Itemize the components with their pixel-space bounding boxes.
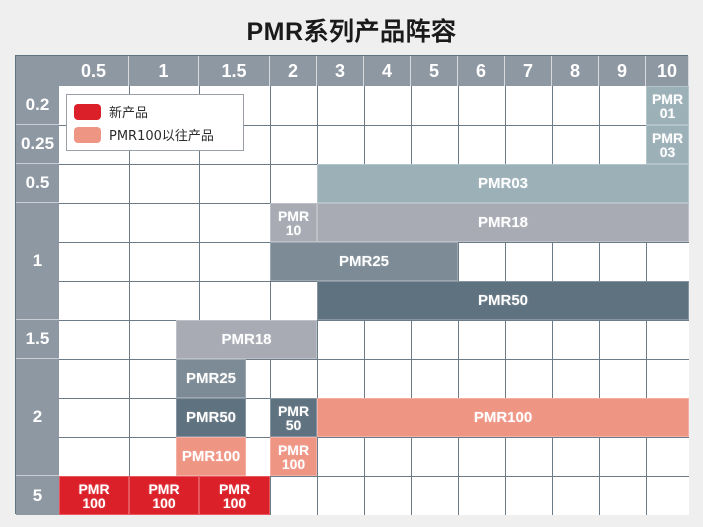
page-title: PMR系列产品阵容 [0,12,703,48]
row-header-1.5: 1.5 [16,320,59,359]
pmr18-bar-low[interactable]: PMR18 [176,320,317,359]
pmr100-new-a[interactable]: PMR 100 [59,476,129,515]
grid-line-horizontal [59,437,689,438]
row-header-1: 1 [16,203,59,320]
pmr100-legacy-b[interactable]: PMR 100 [270,437,317,476]
pmr03-cell[interactable]: PMR 03 [646,125,689,164]
legend-swatch-legacy-product [74,127,101,143]
column-header-0.5: 0.5 [59,56,129,86]
column-header-6: 6 [458,56,505,86]
column-header-10: 10 [646,56,689,86]
pmr50-bar[interactable]: PMR50 [317,281,689,320]
column-header-1.5: 1.5 [199,56,270,86]
column-header-row: 0.511.52345678910 [16,56,689,86]
pmr100-new-c[interactable]: PMR 100 [199,476,270,515]
pmr10-cell[interactable]: PMR 10 [270,203,317,242]
product-lineup-matrix: W mΩ 0.511.52345678910 0.20.250.511.525 … [15,55,688,514]
pmr100-legacy-a[interactable]: PMR100 [176,437,246,476]
grid-line-horizontal [59,359,689,360]
column-header-4: 4 [364,56,411,86]
pmr100-legacy-bar[interactable]: PMR100 [317,398,689,437]
column-header-9: 9 [599,56,646,86]
row-header-0.5: 0.5 [16,164,59,203]
row-header-0.2: 0.2 [16,86,59,125]
column-header-2: 2 [270,56,317,86]
legend-label-new-product: 新产品 [109,102,148,121]
legend: 新产品 PMR100以往产品 [66,94,244,151]
row-header-column: 0.20.250.511.525 [16,86,59,515]
pmr50-cell[interactable]: PMR50 [176,398,246,437]
column-header-5: 5 [411,56,458,86]
legend-item: PMR100以往产品 [74,123,236,146]
column-header-8: 8 [552,56,599,86]
legend-swatch-new-product [74,104,101,120]
pmr01-cell[interactable]: PMR 01 [646,86,689,125]
row-header-0.25: 0.25 [16,125,59,164]
pmr25-bar[interactable]: PMR25 [270,242,458,281]
grid-line-horizontal [59,320,689,321]
pmr100-new-b[interactable]: PMR 100 [129,476,199,515]
column-header-3: 3 [317,56,364,86]
legend-item: 新产品 [74,100,236,123]
column-header-1: 1 [129,56,199,86]
column-header-7: 7 [505,56,552,86]
pmr25-cell[interactable]: PMR25 [176,359,246,398]
row-header-5: 5 [16,476,59,515]
pmr03-bar[interactable]: PMR03 [317,164,689,203]
pmr50-narrow[interactable]: PMR 50 [270,398,317,437]
legend-label-legacy-product: PMR100以往产品 [109,125,214,144]
pmr18-bar-top[interactable]: PMR18 [317,203,689,242]
row-header-2: 2 [16,359,59,476]
